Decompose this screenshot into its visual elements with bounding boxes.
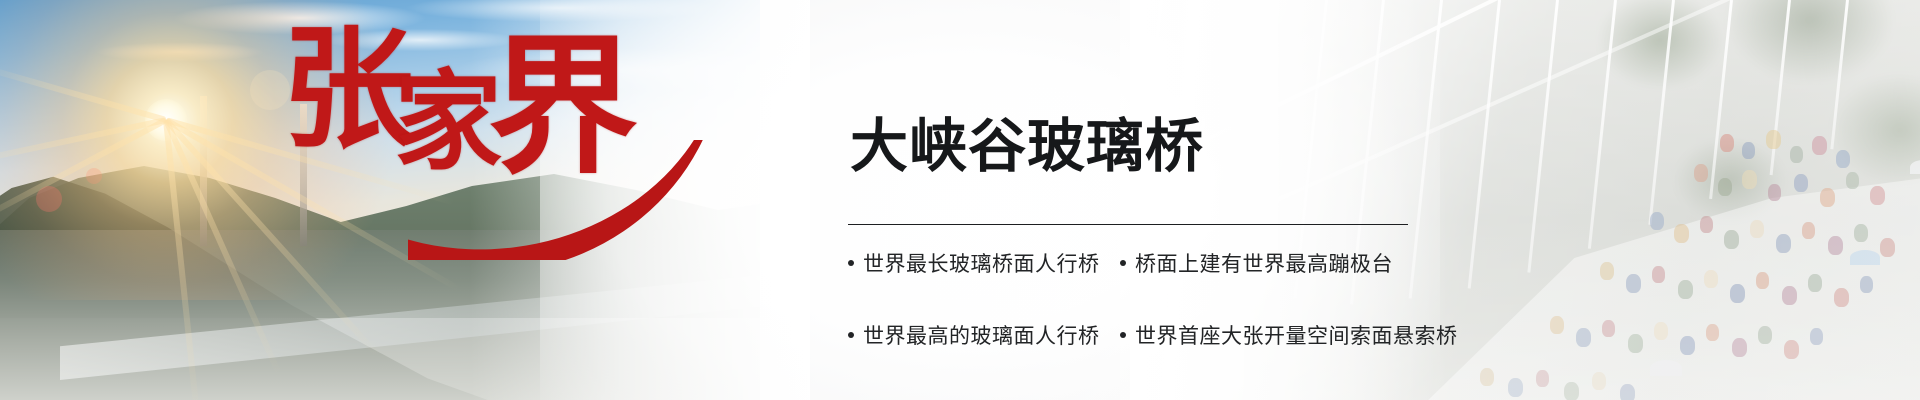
page-title: 大峡谷玻璃桥	[850, 116, 1204, 177]
bullet-dot-icon	[1120, 332, 1126, 338]
bullet-dot-icon	[1120, 260, 1126, 266]
wordmark-char-2: 家	[394, 68, 498, 176]
wordmark-char-3: 界	[488, 32, 634, 182]
bullet-dot-icon	[848, 260, 854, 266]
feature-list: 世界最长玻璃桥面人行桥 桥面上建有世界最高蹦极台 世界最高的玻璃面人行桥 世界首…	[848, 248, 1468, 350]
list-item: 桥面上建有世界最高蹦极台	[1120, 248, 1468, 278]
list-item: 世界首座大张开量空间索面悬索桥	[1120, 320, 1468, 350]
list-item: 世界最长玻璃桥面人行桥	[848, 248, 1120, 278]
banner-content: 张家界 大峡谷玻璃桥 世界最长玻璃桥面人行桥 桥面上建有世界最高蹦极台 世界最高…	[0, 0, 1920, 400]
title-divider	[848, 224, 1408, 225]
list-item-label: 桥面上建有世界最高蹦极台	[1135, 248, 1393, 278]
list-item-label: 世界首座大张开量空间索面悬索桥	[1135, 320, 1458, 350]
wordmark-char-1: 张	[282, 24, 410, 156]
zhangjiajie-glass-bridge-banner: 张家界 大峡谷玻璃桥 世界最长玻璃桥面人行桥 桥面上建有世界最高蹦极台 世界最高…	[0, 0, 1920, 400]
list-item-label: 世界最高的玻璃面人行桥	[863, 320, 1100, 350]
wordmark-zhangjiajie: 张家界	[282, 8, 660, 158]
list-item-label: 世界最长玻璃桥面人行桥	[863, 248, 1100, 278]
bullet-dot-icon	[848, 332, 854, 338]
list-item: 世界最高的玻璃面人行桥	[848, 320, 1120, 350]
